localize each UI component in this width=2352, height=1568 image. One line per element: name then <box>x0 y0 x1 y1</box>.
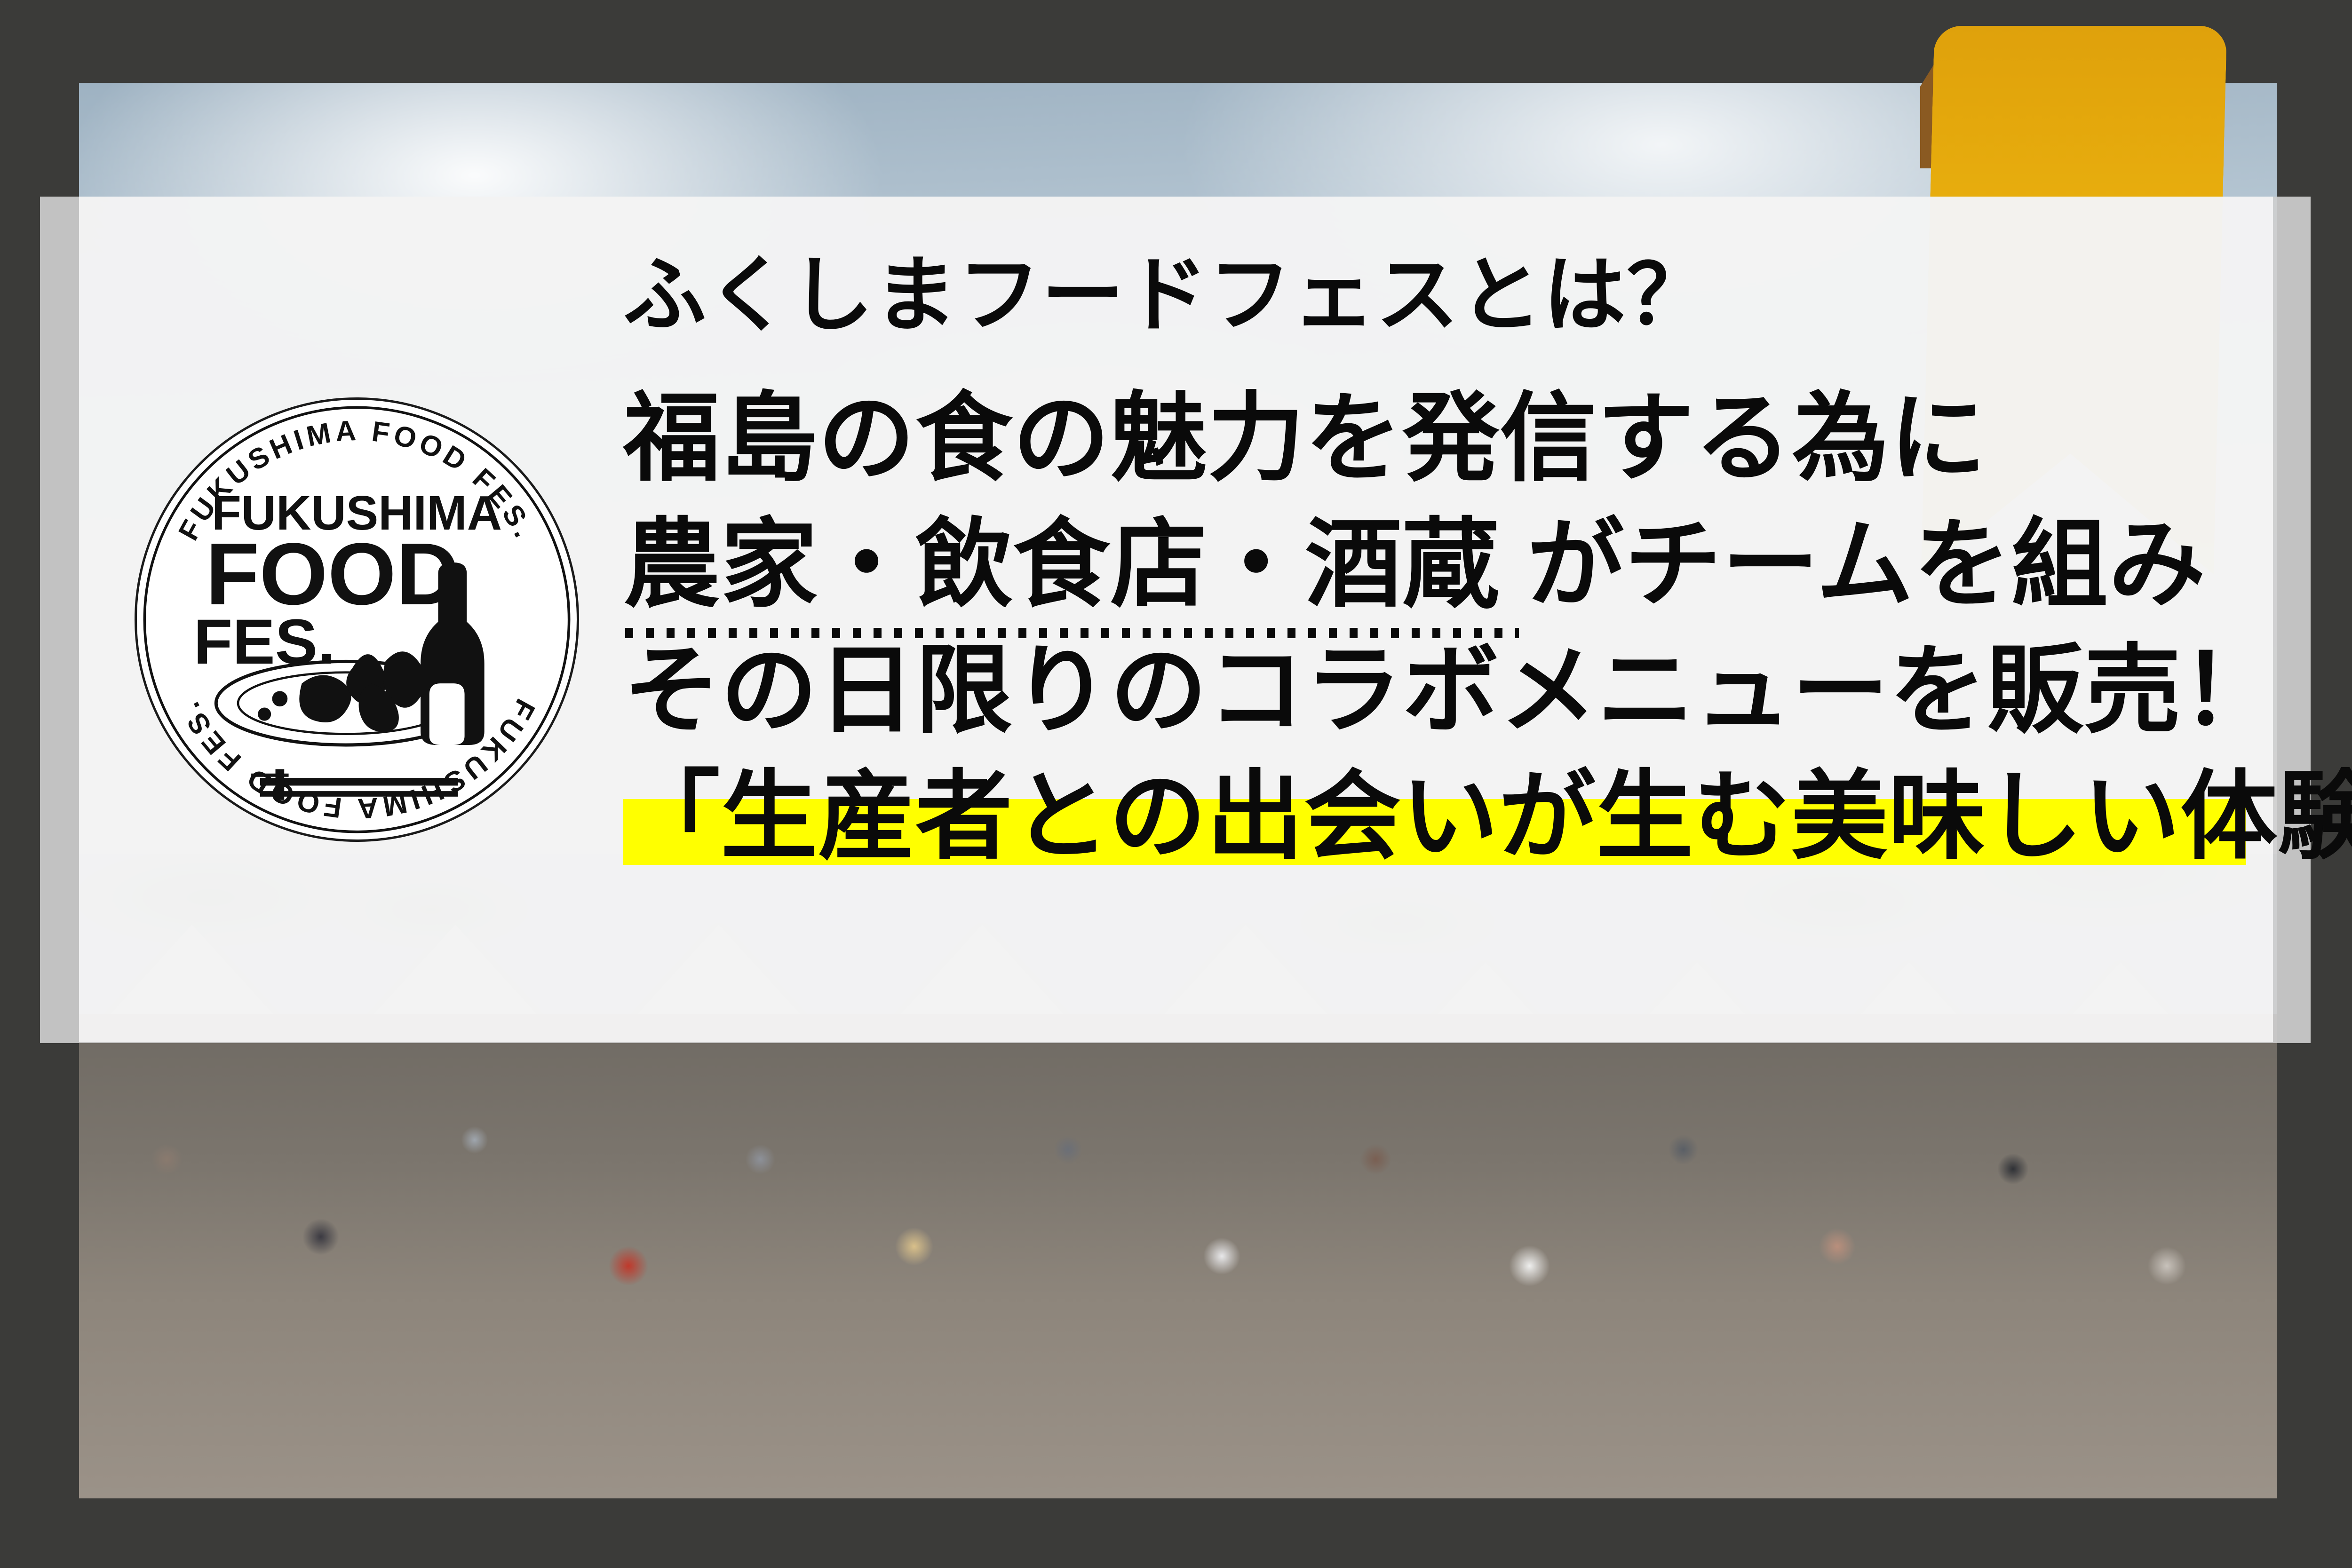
fukushima-food-fes-logo: FUKUSHIMA FOOD FES. FUKUSHIMA FOOD FES. … <box>135 397 579 842</box>
body-line-2: 農家・飲食店・酒蔵 がチームを組み <box>623 502 2223 628</box>
body-line-2-wrap: 農家・飲食店・酒蔵 がチームを組み <box>623 502 2223 628</box>
sake-cup-icon <box>429 683 465 745</box>
dotted-underline <box>625 628 1519 638</box>
logo-title-fes: FES. <box>193 606 335 677</box>
body-line-3: その日限りのコラボメニューを販売！ <box>623 628 2223 754</box>
crowd-region <box>79 1014 2277 1498</box>
body-line-4-highlighted: 「生産者との出会いが生む美味しい体験」 <box>623 762 2352 871</box>
page-title: ふくしまフードフェスとは？ <box>623 249 2223 342</box>
body-line-4-wrap: 「生産者との出会いが生む美味しい体験」 <box>623 754 2223 880</box>
info-text-block: ふくしまフードフェスとは？ 福島の食の魅力を発信する為に 農家・飲食店・酒蔵 が… <box>623 249 2223 879</box>
body-line-1: 福島の食の魅力を発信する為に <box>623 376 2223 502</box>
